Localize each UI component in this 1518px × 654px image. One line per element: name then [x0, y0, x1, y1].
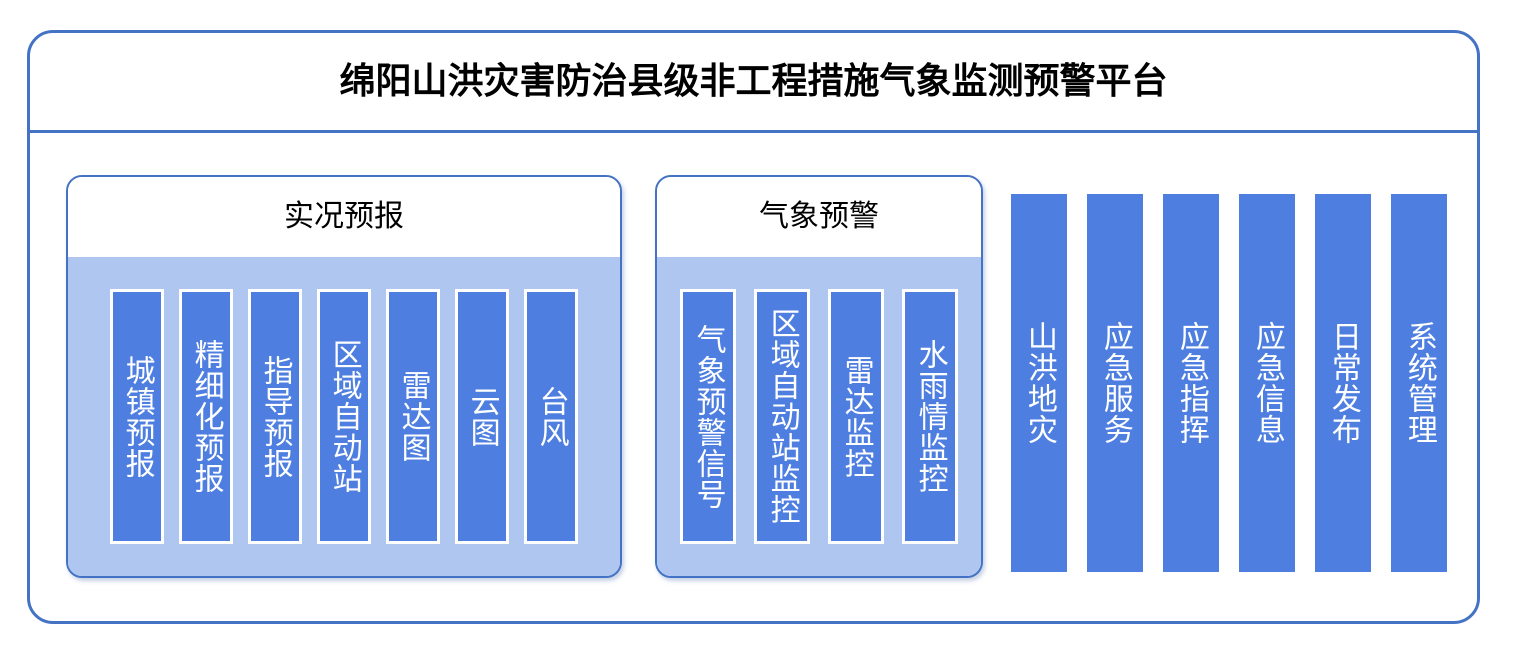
module-card-refined-forecast[interactable]: 精细化预报	[179, 289, 233, 544]
module-card-regional-auto-station-monitor[interactable]: 区域自动站监控	[754, 289, 810, 544]
header-divider	[28, 130, 1479, 133]
module-card-typhoon[interactable]: 台风	[524, 289, 578, 544]
module-label: 精细化预报	[190, 339, 221, 494]
module-card-emergency-information[interactable]: 应急信息	[1239, 194, 1295, 572]
module-card-system-management[interactable]: 系统管理	[1391, 194, 1447, 572]
module-label: 雷达监控	[840, 355, 871, 479]
group-items-weather-warning: 气象预警信号 区域自动站监控 雷达监控 水雨情监控	[657, 257, 981, 576]
module-label: 山洪地灾	[1023, 321, 1055, 445]
standalone-module-strip: 山洪地灾 应急服务 应急指挥 应急信息 日常发布 系统管理	[1011, 194, 1449, 572]
module-card-radar-monitor[interactable]: 雷达监控	[828, 289, 884, 544]
group-header-live-forecast: 实况预报	[68, 177, 620, 257]
module-card-city-forecast[interactable]: 城镇预报	[110, 289, 164, 544]
module-card-water-rain-monitor[interactable]: 水雨情监控	[902, 289, 958, 544]
module-card-weather-warning-signal[interactable]: 气象预警信号	[680, 289, 736, 544]
module-card-guidance-forecast[interactable]: 指导预报	[248, 289, 302, 544]
group-title-weather-warning: 气象预警	[759, 202, 879, 232]
module-card-emergency-command[interactable]: 应急指挥	[1163, 194, 1219, 572]
module-card-cloud-map[interactable]: 云图	[455, 289, 509, 544]
group-body-live-forecast: 城镇预报 精细化预报 指导预报 区域自动站 雷达图 云图 台风	[68, 257, 620, 576]
module-label: 台风	[535, 386, 566, 448]
platform-diagram: 绵阳山洪灾害防治县级非工程措施气象监测预警平台 实况预报 城镇预报 精细化预报 …	[0, 0, 1518, 654]
module-card-regional-auto-station[interactable]: 区域自动站	[317, 289, 371, 544]
module-label: 区域自动站	[328, 339, 359, 494]
group-title-live-forecast: 实况预报	[284, 202, 404, 232]
module-label: 系统管理	[1403, 321, 1435, 445]
module-card-emergency-service[interactable]: 应急服务	[1087, 194, 1143, 572]
module-label: 日常发布	[1327, 321, 1359, 445]
module-label: 应急指挥	[1175, 321, 1207, 445]
module-label: 应急信息	[1251, 321, 1283, 445]
platform-header: 绵阳山洪灾害防治县级非工程措施气象监测预警平台	[27, 30, 1480, 131]
group-body-weather-warning: 气象预警信号 区域自动站监控 雷达监控 水雨情监控	[657, 257, 981, 576]
page-title: 绵阳山洪灾害防治县级非工程措施气象监测预警平台	[339, 63, 1167, 99]
module-label: 城镇预报	[121, 355, 152, 479]
module-label: 雷达图	[397, 370, 428, 463]
group-panel-weather-warning: 气象预警 气象预警信号 区域自动站监控 雷达监控 水雨情监控	[655, 175, 983, 578]
module-label: 云图	[466, 386, 497, 448]
group-header-weather-warning: 气象预警	[657, 177, 981, 257]
group-panel-live-forecast: 实况预报 城镇预报 精细化预报 指导预报 区域自动站 雷达图	[66, 175, 622, 578]
module-label: 水雨情监控	[914, 339, 945, 494]
module-label: 应急服务	[1099, 321, 1131, 445]
module-card-daily-release[interactable]: 日常发布	[1315, 194, 1371, 572]
module-label: 气象预警信号	[692, 324, 723, 510]
module-label: 指导预报	[259, 355, 290, 479]
module-label: 区域自动站监控	[766, 308, 797, 525]
module-card-mountain-flood-disaster[interactable]: 山洪地灾	[1011, 194, 1067, 572]
group-items-live-forecast: 城镇预报 精细化预报 指导预报 区域自动站 雷达图 云图 台风	[68, 257, 620, 576]
module-card-radar-map[interactable]: 雷达图	[386, 289, 440, 544]
